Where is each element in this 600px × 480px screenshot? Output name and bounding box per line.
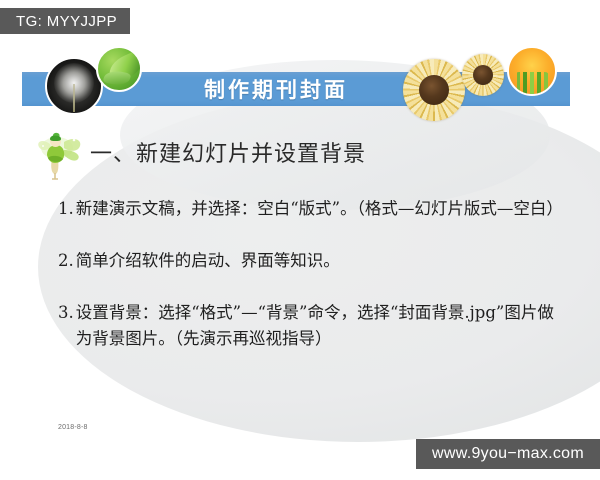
fairy-clipart-icon <box>30 128 86 180</box>
slide-title: 制作期刊封面 <box>22 72 570 106</box>
list-item: 2. 简单介绍软件的启动、界面等知识。 <box>58 248 558 274</box>
slide-canvas: 制作期刊封面 TG: MYYJJPP 一、新建幻灯片并设置背景 1. 新建演示文… <box>0 0 600 480</box>
list-item: 1. 新建演示文稿，并选择：空白“版式”。（格式—幻灯片版式—空白） <box>58 196 558 222</box>
list-item-text: 新建演示文稿，并选择：空白“版式”。（格式—幻灯片版式—空白） <box>76 196 558 222</box>
section-heading: 一、新建幻灯片并设置背景 <box>90 136 366 168</box>
list-item-number: 2. <box>58 248 76 274</box>
list-item-text: 简单介绍软件的启动、界面等知识。 <box>76 248 558 274</box>
tg-badge: TG: MYYJJPP <box>0 8 130 34</box>
list-item-text: 设置背景：选择“格式”—“背景”命令，选择“封面背景.jpg”图片做为背景图片。… <box>76 300 558 352</box>
tg-badge-label: TG: MYYJJPP <box>16 13 117 30</box>
list-item-number: 1. <box>58 196 76 222</box>
watermark-badge: www.9you−max.com <box>416 439 600 469</box>
content-list: 1. 新建演示文稿，并选择：空白“版式”。（格式—幻灯片版式—空白） 2. 简单… <box>58 196 558 378</box>
watermark-label: www.9you−max.com <box>432 445 584 463</box>
list-item: 3. 设置背景：选择“格式”—“背景”命令，选择“封面背景.jpg”图片做为背景… <box>58 300 558 352</box>
list-item-number: 3. <box>58 300 76 326</box>
slide-date: 2018-8-8 <box>58 424 88 431</box>
